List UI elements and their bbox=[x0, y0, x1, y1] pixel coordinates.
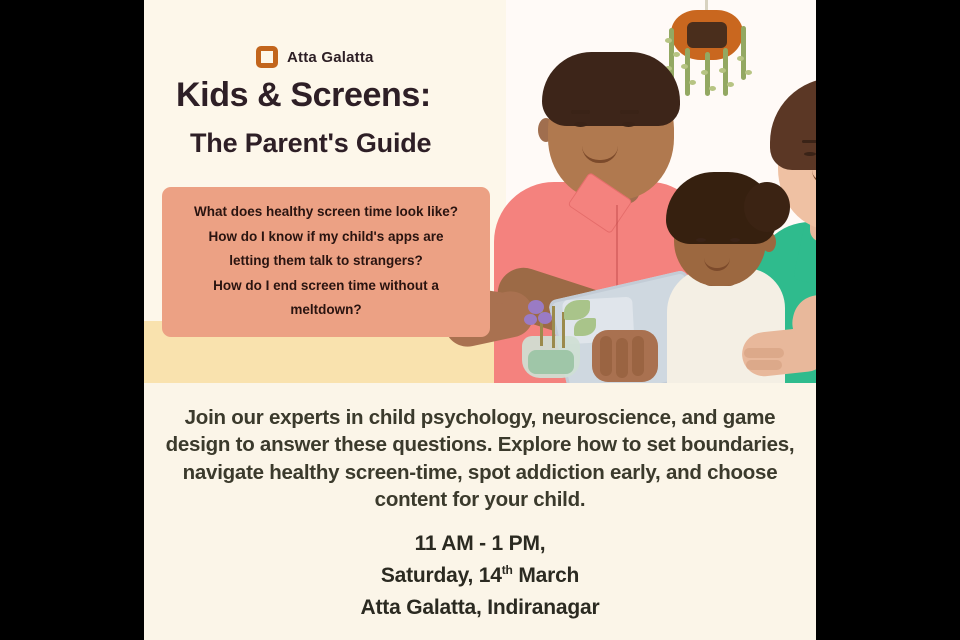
event-date-suffix: th bbox=[502, 563, 513, 577]
father-finger bbox=[632, 336, 644, 376]
atta-galatta-square-frame-icon bbox=[256, 46, 278, 68]
plant-flower bbox=[538, 312, 552, 324]
question-line: letting them talk to strangers? bbox=[176, 249, 476, 274]
event-date-month: March bbox=[513, 564, 580, 587]
vine-leaf bbox=[719, 68, 726, 73]
brand-logo: Atta Galatta bbox=[256, 46, 374, 68]
father-finger bbox=[600, 336, 612, 376]
question-line: What does healthy screen time look like? bbox=[176, 200, 476, 225]
plant-stem bbox=[552, 306, 555, 348]
vine-leaf bbox=[737, 56, 744, 61]
father-brow-left bbox=[571, 110, 590, 114]
child-eye-left bbox=[696, 238, 706, 242]
question-line: How do I know if my child's apps are bbox=[176, 225, 476, 250]
vine-leaf bbox=[665, 38, 672, 43]
event-date: Saturday, 14th March bbox=[160, 560, 800, 592]
question-line: How do I end screen time without a bbox=[176, 274, 476, 299]
child-hair-puff bbox=[744, 182, 790, 232]
plant-flower bbox=[524, 314, 537, 325]
father-brow-right bbox=[620, 110, 639, 114]
vase-water bbox=[528, 350, 574, 374]
father-finger bbox=[616, 338, 628, 378]
event-time: 11 AM - 1 PM, bbox=[160, 528, 800, 560]
event-description: Join our experts in child psychology, ne… bbox=[160, 404, 800, 513]
planter-soil bbox=[687, 22, 727, 48]
vine-leaf bbox=[689, 80, 696, 85]
event-poster: Atta Galatta Kids & Screens: The Parent'… bbox=[144, 0, 816, 640]
vine-leaf bbox=[727, 82, 734, 87]
brand-name: Atta Galatta bbox=[287, 49, 374, 66]
event-details: 11 AM - 1 PM, Saturday, 14th March Atta … bbox=[160, 528, 800, 624]
page-title: Kids & Screens: bbox=[176, 78, 506, 114]
page-subtitle: The Parent's Guide bbox=[190, 128, 520, 159]
mother-hair-top bbox=[770, 78, 816, 170]
father-eye-right bbox=[622, 122, 635, 127]
mother-brow-left bbox=[802, 140, 816, 143]
vine-leaf bbox=[673, 52, 680, 57]
father-eye-left bbox=[574, 122, 587, 127]
vine-leaf bbox=[745, 70, 752, 75]
event-venue: Atta Galatta, Indiranagar bbox=[160, 592, 800, 624]
vine bbox=[685, 48, 690, 96]
mother-finger bbox=[746, 360, 782, 370]
vine-leaf bbox=[681, 64, 688, 69]
vine-leaf bbox=[709, 86, 716, 91]
child-eye-right bbox=[730, 238, 740, 242]
screenshot-canvas: Atta Galatta Kids & Screens: The Parent'… bbox=[0, 0, 960, 640]
question-box: What does healthy screen time look like?… bbox=[162, 187, 490, 337]
question-line: meltdown? bbox=[176, 298, 476, 323]
mother-eye-left bbox=[804, 152, 816, 156]
event-date-day: Saturday, 14 bbox=[381, 564, 502, 587]
mother-finger bbox=[744, 348, 784, 358]
vine-leaf bbox=[701, 70, 708, 75]
father-hair bbox=[542, 52, 680, 126]
